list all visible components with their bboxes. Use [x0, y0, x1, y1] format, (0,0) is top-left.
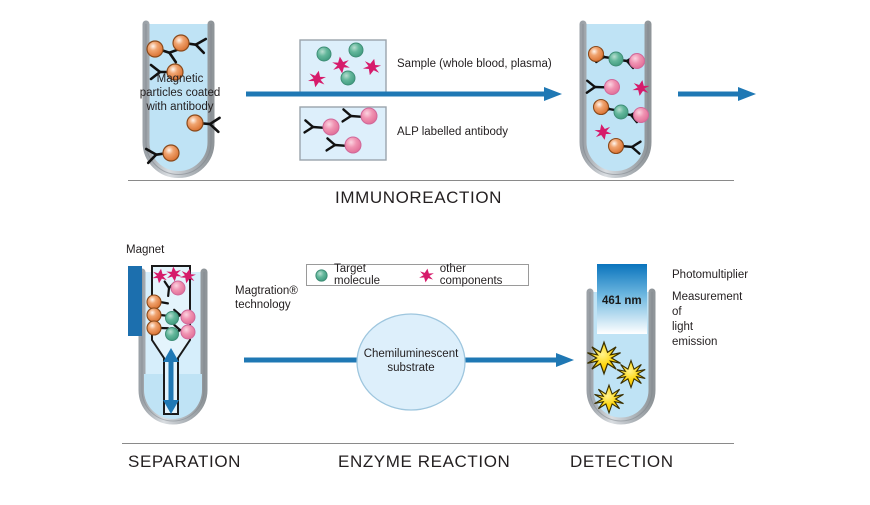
magnet-label: Magnet — [126, 243, 164, 257]
tube-glass-right — [565, 16, 669, 178]
legend: Target molecule other components — [306, 264, 529, 286]
left-tube-caption: Magnetic particles coated with antibody — [138, 72, 222, 114]
magnet-bar — [128, 266, 142, 336]
measurement-label: Measurement of light emission — [672, 290, 742, 350]
immunoreaction-divider — [128, 180, 734, 181]
green-circle-icon — [315, 269, 328, 282]
legend-label-other: other components — [440, 263, 520, 287]
stage-label-separation: SEPARATION — [128, 452, 241, 472]
stage-label-detection: DETECTION — [570, 452, 674, 472]
wavelength-label: 461 nm — [602, 295, 642, 307]
photomultiplier-label: Photomultiplier — [672, 268, 748, 283]
stage-label-enzyme-reaction: ENZYME REACTION — [338, 452, 510, 472]
legend-label-target: Target molecule — [334, 263, 405, 287]
immunoreaction-right-tube — [565, 16, 669, 178]
chemiluminescent-substrate-bubble: Chemiluminescent substrate — [355, 312, 467, 412]
separation-tube — [128, 262, 240, 434]
magtration-technology-label: Magtration® technology — [235, 284, 298, 313]
magenta-star-icon — [419, 268, 434, 283]
stage-label-immunoreaction: IMMUNOREACTION — [335, 188, 502, 208]
immunoreaction-left-tube: Magnetic particles coated with antibody — [128, 16, 232, 178]
alp-reagent-box — [299, 106, 387, 161]
arrow-to-reaction — [246, 86, 562, 102]
sample-box-label: Sample (whole blood, plasma) — [397, 58, 552, 70]
separation-graphic — [128, 262, 240, 434]
process-divider — [122, 443, 734, 444]
alp-box-graphic — [299, 106, 387, 161]
alp-box-label: ALP labelled antibody — [397, 126, 508, 138]
arrow-to-separation — [678, 86, 756, 102]
bubble-label: Chemiluminescent substrate — [363, 347, 459, 375]
